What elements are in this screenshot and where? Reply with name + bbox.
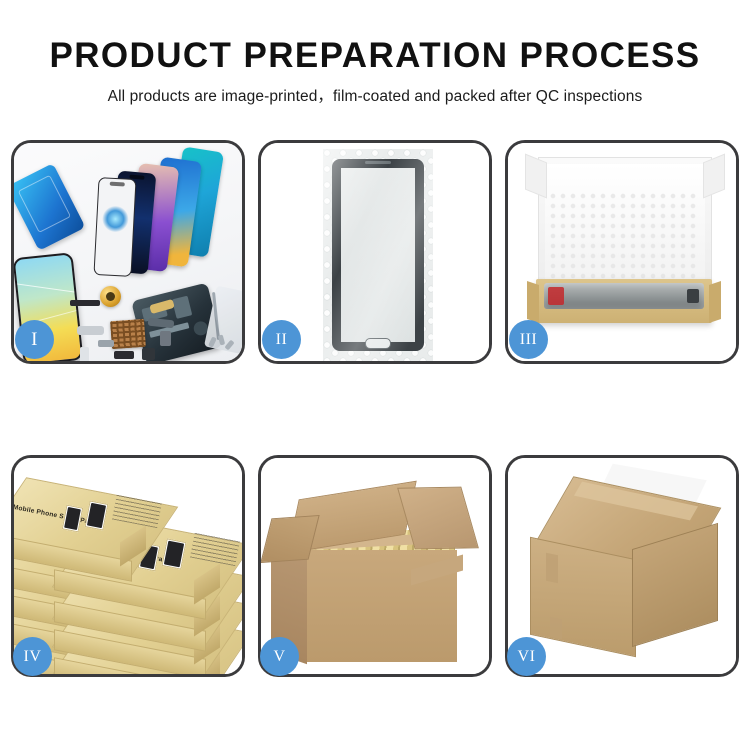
glass-notch-icon — [110, 182, 125, 186]
sim-tray-icon — [80, 347, 89, 361]
step-badge-1: I — [15, 320, 54, 359]
wrap-gloss-icon — [323, 149, 433, 361]
small-module-icon — [114, 351, 134, 359]
connector-grid-icon — [110, 319, 146, 349]
sealed-carton-icon — [534, 492, 714, 652]
phone-glass-panel-icon — [93, 177, 136, 277]
antenna-strip-icon — [98, 340, 114, 347]
step-panel-4: Mobile Phone Spare Parts Mobile Phone Sp… — [11, 455, 245, 677]
screw-icon — [218, 335, 225, 346]
step-panel-5: V — [258, 455, 492, 677]
step-6-image — [508, 458, 736, 674]
screw-icon — [208, 336, 217, 347]
seal-tape-upper-icon — [546, 553, 558, 584]
board-chip-2-icon — [172, 296, 192, 319]
step-panel-1: I — [11, 140, 245, 364]
step-panel-6: VI — [505, 455, 739, 677]
foam-insert-icon — [548, 191, 700, 285]
box-stack-group: Mobile Phone Spare Parts Mobile Phone Sp… — [14, 458, 242, 674]
step-badge-3: III — [509, 320, 548, 359]
step-badge-2: II — [262, 320, 301, 359]
seal-tape-lower-icon — [550, 617, 562, 640]
step-5-image — [261, 458, 489, 674]
steps-grid: I II — [0, 0, 750, 750]
screw-icon — [224, 340, 234, 351]
step-badge-5: V — [260, 637, 299, 676]
step-panel-2: II — [258, 140, 492, 364]
bubble-wrap-sheet-icon — [323, 149, 433, 361]
packed-screen-icon — [544, 283, 704, 309]
battery-connector-icon — [160, 331, 171, 346]
flex-cable-icon — [77, 326, 104, 335]
step-badge-4: IV — [13, 637, 52, 676]
product-preparation-infographic: PRODUCT PREPARATION PROCESS All products… — [0, 0, 750, 750]
step-panel-3: III — [505, 140, 739, 364]
screws-group-icon — [210, 335, 236, 353]
phone-fan-group — [98, 148, 242, 273]
gold-coil-icon — [100, 286, 121, 307]
step-4-image: Mobile Phone Spare Parts Mobile Phone Sp… — [14, 458, 242, 674]
taptic-engine-icon — [142, 348, 155, 360]
wallpaper-glow-icon — [102, 206, 129, 233]
earpiece-speaker-icon — [70, 300, 100, 306]
step-badge-6: VI — [507, 637, 546, 676]
